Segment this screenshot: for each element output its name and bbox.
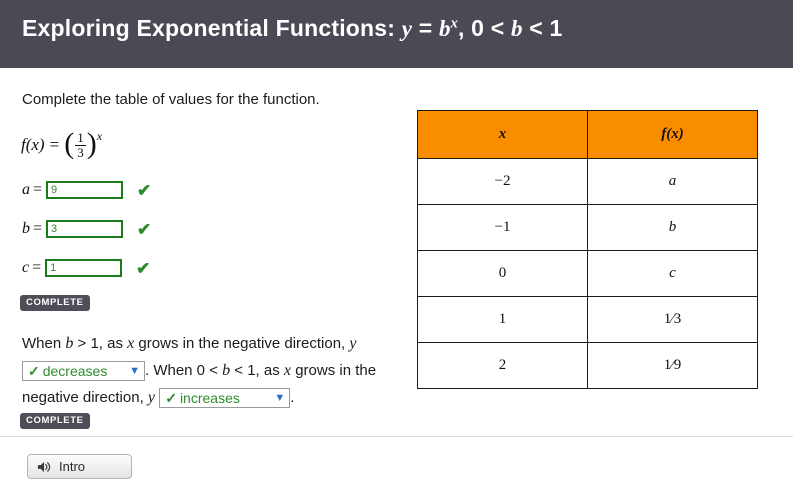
table-row: 0 c — [418, 251, 758, 297]
dropdown-label-2: increases — [180, 390, 240, 406]
correct-check-icon-b: ✔ — [137, 221, 151, 238]
title-tail-2: < 1 — [523, 15, 563, 41]
dropdown-check-icon-1: ✓ — [28, 363, 40, 379]
table-cell-x: −2 — [418, 159, 588, 205]
table-cell-fx: c — [588, 251, 758, 297]
fraction-numerator: 1 — [75, 131, 86, 144]
dropdown-label-1: decreases — [43, 363, 108, 379]
content-area: Complete the table of values for the fun… — [0, 68, 793, 493]
fraction-one-third: 1 3 — [75, 131, 86, 159]
para-var-b2: b — [222, 362, 230, 379]
function-expression: f(x) = ( 1 3 ) x — [21, 130, 102, 160]
answer-label-c: c — [22, 259, 29, 277]
correct-check-icon-a: ✔ — [137, 182, 151, 199]
answer-equals-a: = — [33, 181, 42, 199]
fraction-denominator: 3 — [75, 145, 86, 159]
dropdown-behavior-1[interactable]: ✓decreases▼ — [22, 361, 145, 381]
page-title-prefix: Exploring Exponential Functions: — [22, 15, 402, 41]
answer-input-c[interactable] — [45, 259, 122, 277]
table-row: −2 a — [418, 159, 758, 205]
page-title: Exploring Exponential Functions: y = bx,… — [22, 15, 563, 42]
table-header-fx: f(x) — [588, 111, 758, 159]
answer-row-a: a = ✔ — [22, 181, 151, 199]
answer-row-c: c = ✔ — [22, 259, 150, 277]
function-equals: = — [50, 135, 60, 155]
title-var-b2: b — [511, 16, 523, 41]
open-paren: ( — [64, 129, 74, 159]
dropdown-check-icon-2: ✓ — [165, 390, 177, 406]
title-var-y: y — [402, 16, 412, 41]
title-tail-1: , 0 < — [458, 15, 511, 41]
answer-label-b: b — [22, 220, 30, 238]
bottom-divider — [0, 436, 793, 437]
complete-badge-2: COMPLETE — [20, 413, 90, 429]
answer-label-a: a — [22, 181, 30, 199]
para-part-2: > 1, as — [73, 335, 127, 352]
values-table: x f(x) −2 a −1 b 0 c 1 1⁄3 2 1⁄9 — [417, 110, 758, 389]
conclusion-paragraph: When b > 1, as x grows in the negative d… — [22, 330, 402, 411]
table-row: 1 1⁄3 — [418, 297, 758, 343]
answer-input-a[interactable] — [46, 181, 123, 199]
table-cell-fx: 1⁄3 — [588, 297, 758, 343]
page-header-bar: Exploring Exponential Functions: y = bx,… — [0, 0, 793, 68]
answer-row-b: b = ✔ — [22, 220, 151, 238]
complete-badge-1: COMPLETE — [20, 295, 90, 311]
para-var-y2: y — [148, 389, 155, 406]
correct-check-icon-c: ✔ — [136, 260, 150, 277]
table-header-row: x f(x) — [418, 111, 758, 159]
para-part-5: < 1, as — [230, 362, 284, 379]
function-exponent: x — [97, 129, 102, 144]
title-exponent-x: x — [451, 15, 458, 31]
para-var-y1: y — [349, 335, 356, 352]
table-row: 2 1⁄9 — [418, 343, 758, 389]
intro-button-label: Intro — [59, 459, 85, 474]
prompt-text: Complete the table of values for the fun… — [22, 91, 320, 108]
table-cell-fx: a — [588, 159, 758, 205]
title-var-b: b — [439, 16, 451, 41]
table-cell-x: 0 — [418, 251, 588, 297]
answer-equals-b: = — [33, 220, 42, 238]
speaker-icon — [37, 460, 52, 474]
function-name: f(x) — [21, 135, 45, 155]
table-cell-fx: 1⁄9 — [588, 343, 758, 389]
dropdown-behavior-2[interactable]: ✓increases▼ — [159, 388, 290, 408]
answer-input-b[interactable] — [46, 220, 123, 238]
chevron-down-icon-2: ▼ — [274, 389, 285, 408]
para-part-3: grows in the negative direction, — [134, 335, 349, 352]
para-part-1: When — [22, 335, 65, 352]
table-row: −1 b — [418, 205, 758, 251]
table-cell-x: 2 — [418, 343, 588, 389]
table-header-x: x — [418, 111, 588, 159]
intro-audio-button[interactable]: Intro — [27, 454, 132, 479]
close-paren: ) — [87, 129, 97, 159]
para-var-x2: x — [284, 362, 291, 379]
answer-equals-c: = — [32, 259, 41, 277]
table-cell-x: −1 — [418, 205, 588, 251]
title-equals: = — [412, 15, 439, 41]
table-cell-x: 1 — [418, 297, 588, 343]
para-part-7: . — [290, 389, 294, 406]
chevron-down-icon-1: ▼ — [129, 362, 140, 381]
para-part-4: . When 0 < — [145, 362, 222, 379]
table-cell-fx: b — [588, 205, 758, 251]
